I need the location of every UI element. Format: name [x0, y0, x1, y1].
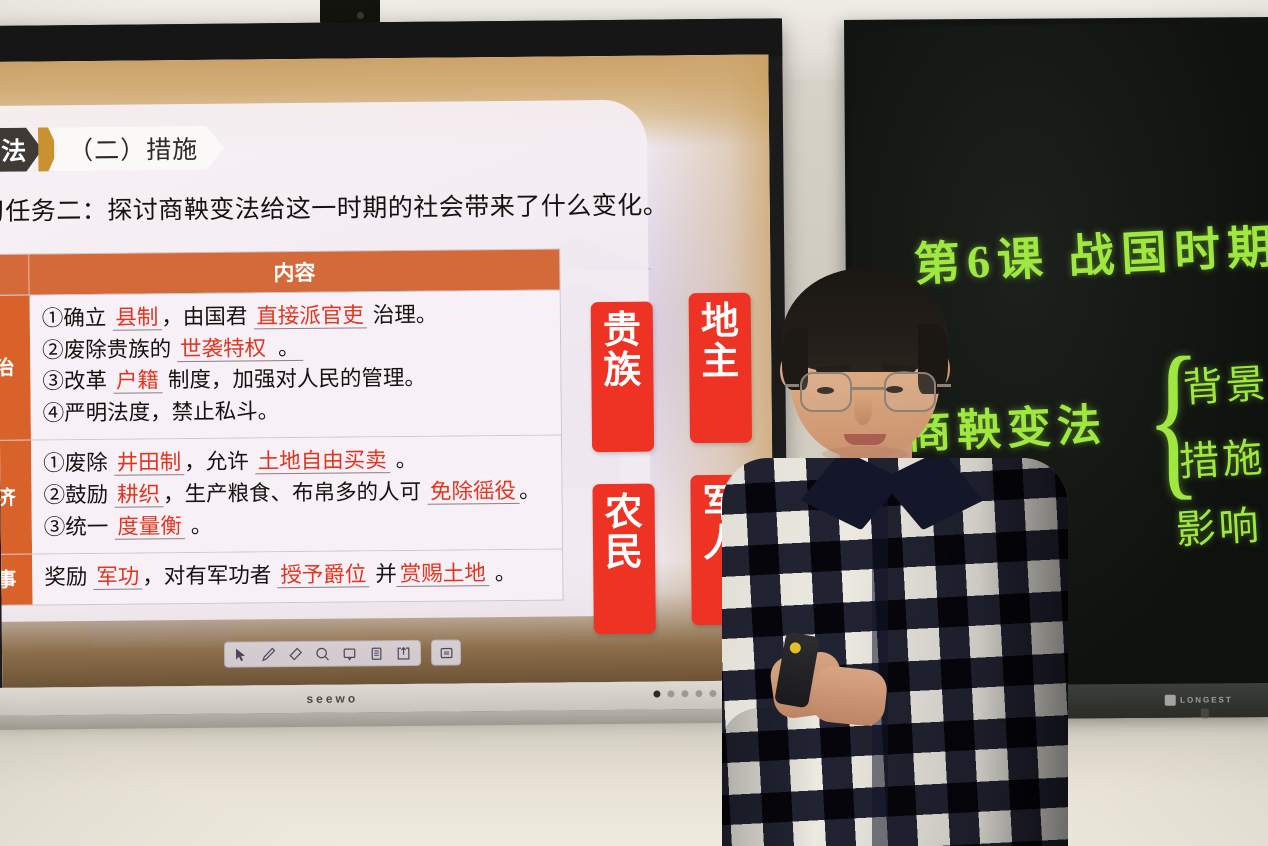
highlighted-term: 井田制	[114, 450, 185, 476]
list-icon[interactable]	[363, 641, 390, 665]
blackboard-item-measures: 措施	[1177, 425, 1266, 488]
list-item-number: ①	[42, 306, 64, 330]
panel-button-3[interactable]	[695, 690, 702, 697]
table-list-item: ④严明法度，禁止私斗。	[43, 393, 551, 429]
highlighted-term: 军功	[93, 565, 142, 590]
remote-indicator-icon	[789, 642, 802, 655]
eraser-icon[interactable]	[282, 642, 309, 666]
highlighted-term: 土地自由买卖	[255, 448, 390, 474]
table-list-item: ②废除贵族的 世袭特权 。	[42, 330, 550, 366]
measures-table: 内容 治①确立 县制，由国君 直接派官吏 治理。②废除贵族的 世袭特权 。③改革…	[0, 248, 564, 605]
table-row: 治①确立 县制，由国君 直接派官吏 治理。②废除贵族的 世袭特权 。③改革 户籍…	[0, 289, 561, 440]
table-row-domain: 治	[0, 296, 31, 441]
blackboard-brand: LONGEST	[1165, 694, 1233, 705]
card-farmer-char2: 民	[593, 533, 655, 573]
list-item-text: 废除	[65, 451, 114, 475]
highlighted-term: 赏赐土地	[397, 561, 489, 587]
table-list-item: ②鼓励 耕织，生产粮食、布帛多的人可 免除徭役。	[43, 476, 551, 512]
list-item-text: 。	[269, 336, 303, 361]
pen-icon[interactable]	[255, 642, 282, 666]
highlighted-term: 县制	[112, 305, 161, 330]
highlighted-term: 免除徭役	[427, 479, 519, 505]
mouth	[844, 434, 886, 445]
list-item-text: 统一	[65, 514, 114, 538]
classroom-scene: 第6课 战国时期 商鞅变法 { 背景 措施 影响 LONGEST	[0, 0, 1268, 846]
panel-brand: seewo	[306, 691, 358, 705]
list-item-number: ③	[44, 515, 66, 539]
highlighted-term: 户籍	[113, 368, 162, 393]
table-row: 事奖励 军功，对有军功者 授予爵位 并赏赐土地 。	[0, 549, 563, 605]
list-item-number: ②	[43, 483, 65, 507]
slide-toolbar[interactable]	[224, 639, 461, 667]
nose	[854, 395, 872, 425]
list-item-number: ③	[42, 369, 64, 393]
camera-indicator-icon	[357, 12, 364, 19]
card-noble-char2: 族	[591, 351, 653, 391]
table-list-item: ③改革 户籍 制度，加强对人民的管理。	[42, 362, 550, 398]
list-item-text: ，对有军功者	[142, 563, 277, 588]
table-row-content: 奖励 军功，对有军功者 授予爵位 并赏赐土地 。	[32, 550, 562, 605]
panel-button-1[interactable]	[667, 690, 674, 697]
table-header-domain	[0, 255, 30, 296]
card-noble[interactable]: 贵 族	[591, 302, 654, 453]
heading-tag-title: （二）措施	[48, 126, 224, 172]
highlighted-term: 耕织	[114, 482, 163, 507]
list-item-text: 。	[489, 561, 517, 585]
list-item-text: ，允许	[184, 450, 255, 475]
interactive-whiteboard[interactable]: 法 （二）措施 习任务二：探讨商鞅变法给这一时期的社会带来了什么变化。 内容 治…	[0, 18, 789, 716]
highlighted-term: 直接派官吏	[253, 303, 367, 329]
heading-tag-dark: 法	[0, 127, 42, 172]
list-item-text: 严明法度，禁止私斗。	[64, 399, 279, 425]
table-row-content: ①废除 井田制，允许 土地自由买卖 。②鼓励 耕织，生产粮食、布帛多的人可 免除…	[31, 436, 562, 554]
highlighted-term: 授予爵位	[277, 562, 369, 588]
table-row: 济①废除 井田制，允许 土地自由买卖 。②鼓励 耕织，生产粮食、布帛多的人可 免…	[0, 435, 562, 554]
shape-icon[interactable]	[336, 641, 363, 665]
table-row-domain: 济	[0, 441, 32, 554]
highlighted-term: 度量衡	[114, 514, 185, 540]
card-noble-char1: 贵	[591, 312, 653, 352]
hand-right	[809, 664, 888, 727]
board-sensor-icon	[1201, 708, 1209, 718]
list-item-text: 确立	[63, 306, 112, 330]
list-item-text: 制度，加强对人民的管理。	[162, 366, 426, 393]
table-list-item: ③统一 度量衡 。	[44, 507, 552, 543]
list-item-text: 。	[519, 479, 541, 503]
table-header-content: 内容	[29, 249, 559, 294]
cursor-icon[interactable]	[228, 642, 255, 666]
list-item-text: 。	[185, 513, 213, 537]
table-header-row: 内容	[0, 249, 560, 295]
brand-name: LONGEST	[1180, 695, 1233, 704]
list-item-text: ，由国君	[161, 304, 253, 329]
list-item-text: 。	[390, 448, 418, 472]
list-item-text: 奖励	[44, 565, 93, 589]
table-row-domain: 事	[0, 555, 33, 605]
slide-task-line: 习任务二：探讨商鞅变法给这一时期的社会带来了什么变化。	[0, 185, 668, 228]
table-list-item: ①确立 县制，由国君 直接派官吏 治理。	[42, 299, 550, 335]
card-farmer[interactable]: 农 民	[592, 484, 655, 635]
panel-screen[interactable]: 法 （二）措施 习任务二：探讨商鞅变法给这一时期的社会带来了什么变化。 内容 治…	[0, 54, 774, 687]
blackboard-item-background: 背景	[1181, 351, 1268, 414]
list-item-text: 废除贵族的	[64, 337, 178, 362]
presenter	[712, 262, 1078, 846]
panel-button-2[interactable]	[681, 690, 688, 697]
list-item-text: 鼓励	[65, 483, 114, 507]
list-item-text: 改革	[64, 369, 113, 393]
torso-shadow	[978, 458, 1068, 846]
list-item-number: ②	[42, 338, 64, 362]
blackboard-brace: {	[1145, 320, 1202, 520]
list-item-number: ①	[43, 452, 65, 476]
table-row-content: ①确立 县制，由国君 直接派官吏 治理。②废除贵族的 世袭特权 。③改革 户籍 …	[30, 290, 561, 439]
table-list-item: 奖励 军功，对有军功者 授予爵位 并赏赐土地 。	[44, 558, 552, 594]
list-item-text: 治理。	[367, 303, 438, 328]
list-item-text: 并	[369, 562, 397, 586]
screen-capture-icon[interactable]	[431, 639, 461, 665]
magnifier-icon[interactable]	[309, 642, 336, 666]
export-icon[interactable]	[390, 641, 417, 665]
table-list-item: ①废除 井田制，允许 土地自由买卖 。	[43, 444, 551, 480]
brand-mark-icon	[1165, 695, 1176, 706]
panel-power-button[interactable]	[653, 691, 660, 698]
list-item-text: ，生产粮食、布帛多的人可	[163, 480, 427, 507]
table-body: 治①确立 县制，由国君 直接派官吏 治理。②废除贵族的 世袭特权 。③改革 户籍…	[0, 289, 563, 604]
list-item-number: ④	[43, 401, 65, 425]
blackboard-item-impact: 影响	[1174, 493, 1263, 556]
toolbar-group[interactable]	[224, 640, 421, 668]
highlighted-term: 世袭特权	[177, 336, 269, 362]
card-farmer-char1: 农	[593, 494, 655, 534]
slide-heading: 法 （二）措施	[0, 126, 224, 172]
hands	[772, 642, 900, 734]
